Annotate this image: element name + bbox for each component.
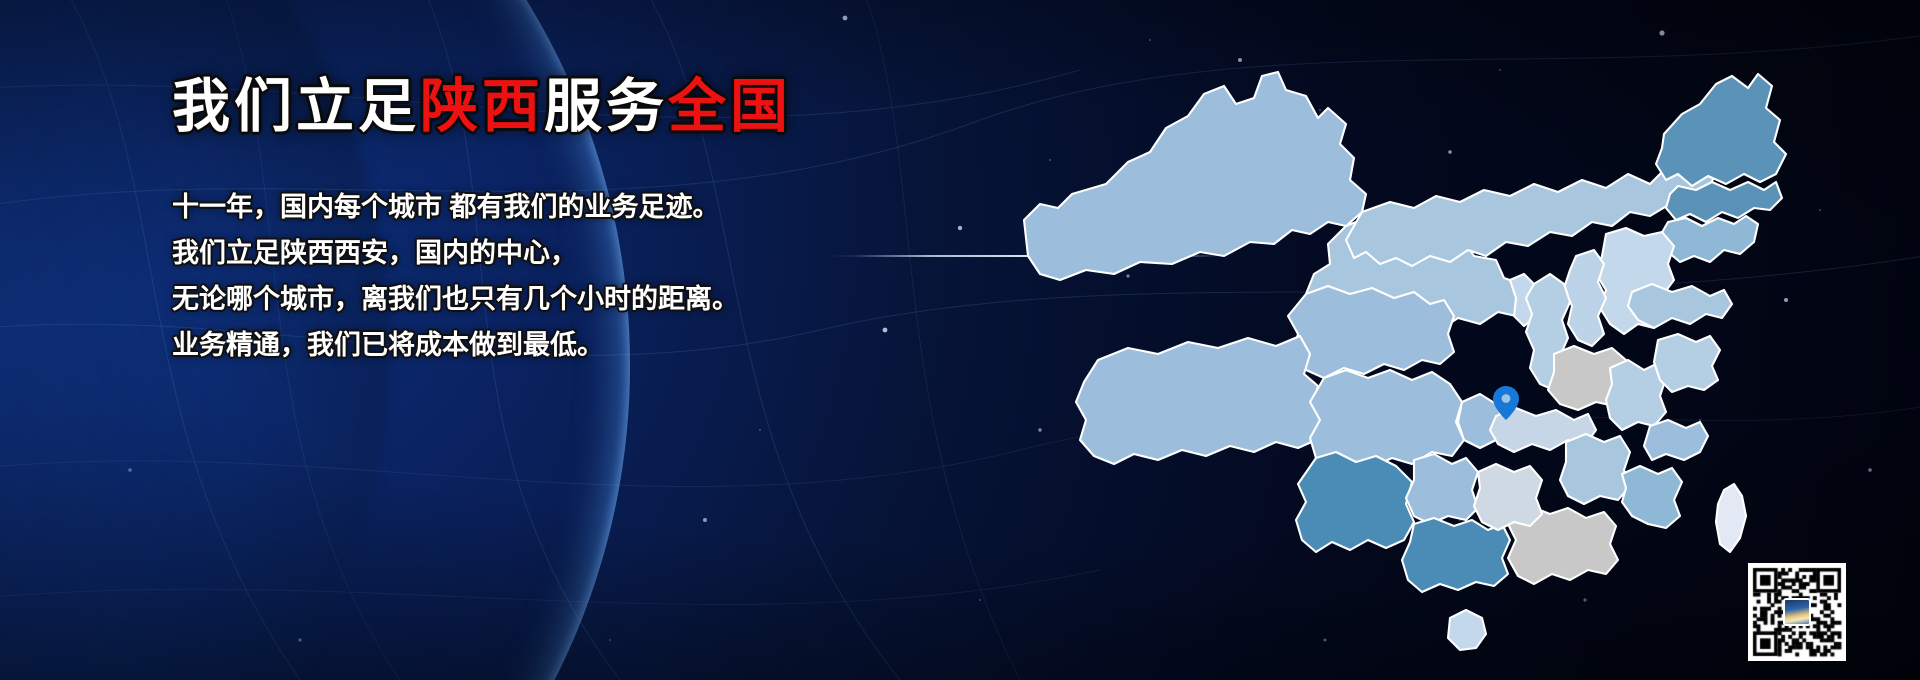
- province-jiangxi[interactable]: [1560, 434, 1630, 504]
- province-xinjiang[interactable]: [1024, 72, 1366, 280]
- headline-seg-2-highlight: 陕西: [420, 74, 544, 139]
- qr-center-logo-icon: [1783, 598, 1811, 626]
- body-line-3: 无论哪个城市，离我们也只有几个小时的距离。: [172, 276, 932, 322]
- body-line-1: 十一年，国内每个城市 都有我们的业务足迹。: [172, 184, 932, 230]
- province-guizhou[interactable]: [1406, 454, 1478, 524]
- china-map: [1010, 12, 1820, 672]
- body-line-4: 业务精通，我们已将成本做到最低。: [172, 322, 932, 368]
- province-jilin[interactable]: [1666, 182, 1782, 222]
- province-heilongjiang[interactable]: [1656, 74, 1786, 186]
- body-line-2: 我们立足陕西西安，国内的中心，: [172, 230, 932, 276]
- province-yunnan[interactable]: [1296, 452, 1414, 552]
- province-tibet[interactable]: [1076, 336, 1324, 464]
- province-taiwan[interactable]: [1716, 484, 1746, 552]
- province-jiangsu[interactable]: [1654, 334, 1720, 392]
- headline-seg-3: 服务: [544, 74, 668, 139]
- province-guangxi[interactable]: [1402, 518, 1510, 592]
- china-map-svg: [1010, 12, 1820, 672]
- headline-seg-4-highlight: 全国: [668, 74, 792, 139]
- province-shanxi[interactable]: [1564, 250, 1606, 346]
- province-hainan[interactable]: [1448, 610, 1486, 650]
- province-liaoning[interactable]: [1660, 216, 1758, 262]
- map-marker-icon: [1493, 386, 1519, 420]
- qr-code[interactable]: [1748, 563, 1846, 661]
- province-fujian[interactable]: [1622, 466, 1682, 528]
- body-copy: 十一年，国内每个城市 都有我们的业务足迹。 我们立足陕西西安，国内的中心， 无论…: [172, 184, 932, 368]
- province-hunan[interactable]: [1474, 464, 1542, 530]
- province-zhejiang[interactable]: [1644, 420, 1708, 460]
- location-pin-icon[interactable]: [1493, 386, 1519, 420]
- page-title: 我们立足陕西服务全国: [172, 78, 932, 136]
- headline-seg-1: 我们立足: [172, 74, 420, 139]
- province-shandong[interactable]: [1628, 284, 1732, 328]
- promo-banner: 我们立足陕西服务全国 十一年，国内每个城市 都有我们的业务足迹。 我们立足陕西西…: [0, 0, 1920, 680]
- copy-block: 我们立足陕西服务全国 十一年，国内每个城市 都有我们的业务足迹。 我们立足陕西西…: [172, 78, 932, 368]
